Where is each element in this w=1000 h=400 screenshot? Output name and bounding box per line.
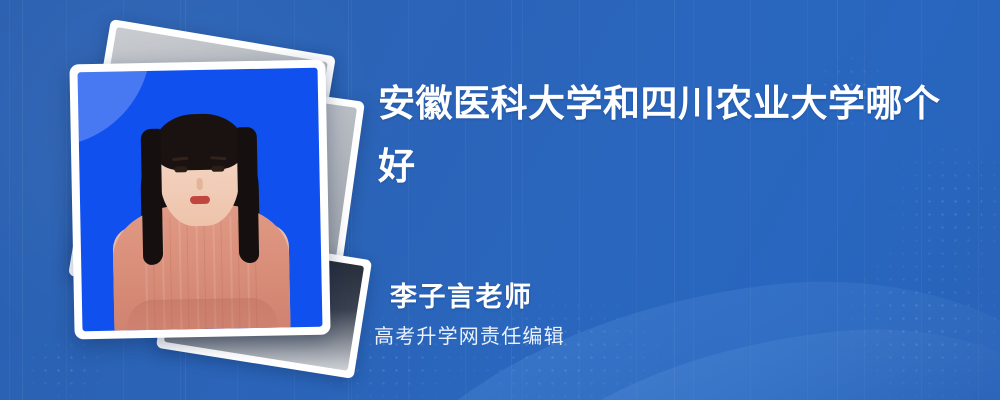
photo-card-stack — [46, 36, 352, 366]
author-role: 高考升学网责任编辑 — [374, 320, 565, 349]
article-cover-banner: 安徽医科大学和四川农业大学哪个好 李子言老师 高考升学网责任编辑 — [0, 0, 1000, 400]
portrait-nose — [197, 178, 203, 190]
portrait-eye-left — [174, 166, 187, 172]
portrait-hair-front — [152, 113, 245, 171]
author-photo-card — [69, 60, 330, 340]
portrait-dress-waist — [127, 298, 278, 331]
author-portrait-photo — [78, 68, 323, 332]
portrait-figure — [78, 68, 323, 332]
portrait-hair-right — [237, 127, 260, 263]
author-name: 李子言老师 — [390, 275, 533, 314]
article-title: 安徽医科大学和四川农业大学哪个好 — [378, 72, 958, 198]
portrait-hair-left — [141, 129, 164, 265]
portrait-mouth — [190, 196, 210, 204]
portrait-eye-right — [211, 166, 224, 172]
banner-text-column: 安徽医科大学和四川农业大学哪个好 李子言老师 高考升学网责任编辑 — [378, 0, 978, 400]
